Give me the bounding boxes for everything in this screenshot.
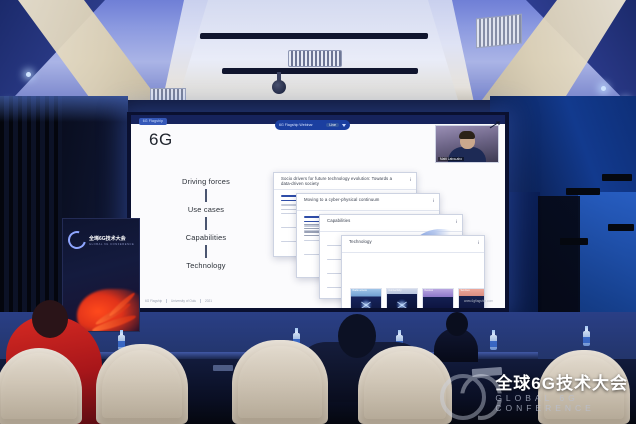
slide-card-technology[interactable]: Technology i Radio access Connectivity D… [341,235,485,308]
right-wall [490,96,636,346]
water-bottle [490,330,497,350]
pointer-arrow-icon [489,121,501,129]
banner-logo: 全琋6G技术大会 GLOBAL 6G CONFERENCE [68,231,134,249]
paper-sheet [213,365,233,371]
air-vent-grille [288,50,342,67]
slide-badge: 6G Flagship [139,118,167,125]
flow-node-capabilities: Capabilities [151,233,261,242]
ceiling-spotlight [26,72,31,77]
flow-diagram: Driving forces Use cases Capabilities Te… [151,177,261,270]
info-icon[interactable]: i [433,198,434,203]
presenter-video-tile[interactable]: Matti Latva-aho [435,125,499,163]
water-bottle [583,326,590,346]
screenshot-root: 6G Flagship 6G 6G Flagship Webinar Live … [0,0,636,424]
attendee-right [434,306,478,362]
info-icon[interactable]: i [456,219,457,224]
info-icon[interactable]: i [478,240,479,245]
watermark-en-line2: CONFERENCE [495,403,628,413]
presenter-name-label: Matti Latva-aho [438,157,464,161]
wall-slot [602,174,632,181]
thumbnail-caption: Connectivity [387,289,417,294]
ceiling-projector [272,80,286,94]
flow-connector [205,189,207,202]
thumbnail-tile[interactable]: Devices [422,288,454,308]
card-title: Technology [349,239,470,244]
flow-connector [205,245,207,258]
ceiling-spotlight [601,86,606,91]
footer-item: 6G Flagship [145,299,162,303]
card-title: Capabilities [327,218,448,223]
watermark: 全球6G技术大会 GLOBAL 6G CONFERENCE [440,372,628,416]
flow-connector [205,217,207,230]
projection-screen: 6G Flagship 6G 6G Flagship Webinar Live … [131,115,505,308]
webinar-pill-label: 6G Flagship Webinar [279,123,323,127]
thumbnail-caption: Devices [423,289,453,294]
watermark-cn-title: 全球6G技术大会 [495,375,628,393]
footer-item: University of Oulu [171,299,196,303]
webinar-pill-tag: Live [326,123,339,127]
slide-badge-label: 6G Flagship [139,118,167,125]
banner-cn-title: 全琋6G技术大会 [89,235,134,242]
card-sidebar [281,195,297,213]
watermark-en-line1: GLOBAL 6G [495,393,628,403]
left-wall-glow [0,96,128,122]
flow-node-technology: Technology [151,261,261,270]
footer-item: 2021 [205,299,212,303]
webinar-pill[interactable]: 6G Flagship Webinar Live [275,120,350,130]
thumbnail-caption: Radio access [351,289,381,294]
card-title: Moving to a cyber-physical continuum [304,197,425,202]
banner-en-title: GLOBAL 6G CONFERENCE [89,243,134,246]
thumbnail-caption: Services [459,289,485,294]
wall-slot [608,224,634,231]
technology-thumbnail-row: Radio access Connectivity Devices Servic… [350,288,485,308]
conference-logo-icon [440,372,490,416]
chair [358,346,452,424]
chair [96,344,188,424]
flow-node-use-cases: Use cases [151,205,261,214]
wall-slot [560,238,588,245]
wall-slot [566,188,600,195]
air-vent-grille [476,14,522,49]
ceiling-light-slot [222,68,418,74]
watermark-text: 全球6G技术大会 GLOBAL 6G CONFERENCE [495,375,628,413]
thumbnail-tile[interactable]: Services [458,288,485,308]
chair [232,340,328,424]
conference-logo-icon [65,228,90,253]
card-title: Socio drivers for future technology evol… [281,176,402,187]
slide-title: 6G [149,130,173,150]
presenter-hair [459,131,475,139]
ceiling-light-slot [200,33,428,39]
thumbnail-tile[interactable]: Radio access [350,288,382,308]
flow-node-driving-forces: Driving forces [151,177,261,186]
slide-footer: 6G Flagship University of Oulu 2021 [145,299,212,303]
thumbnail-tile[interactable]: Connectivity [386,288,418,308]
chevron-down-icon[interactable] [342,124,346,127]
info-icon[interactable]: i [410,177,411,182]
slide-footer-url: www.6gflagship.com [464,299,493,303]
